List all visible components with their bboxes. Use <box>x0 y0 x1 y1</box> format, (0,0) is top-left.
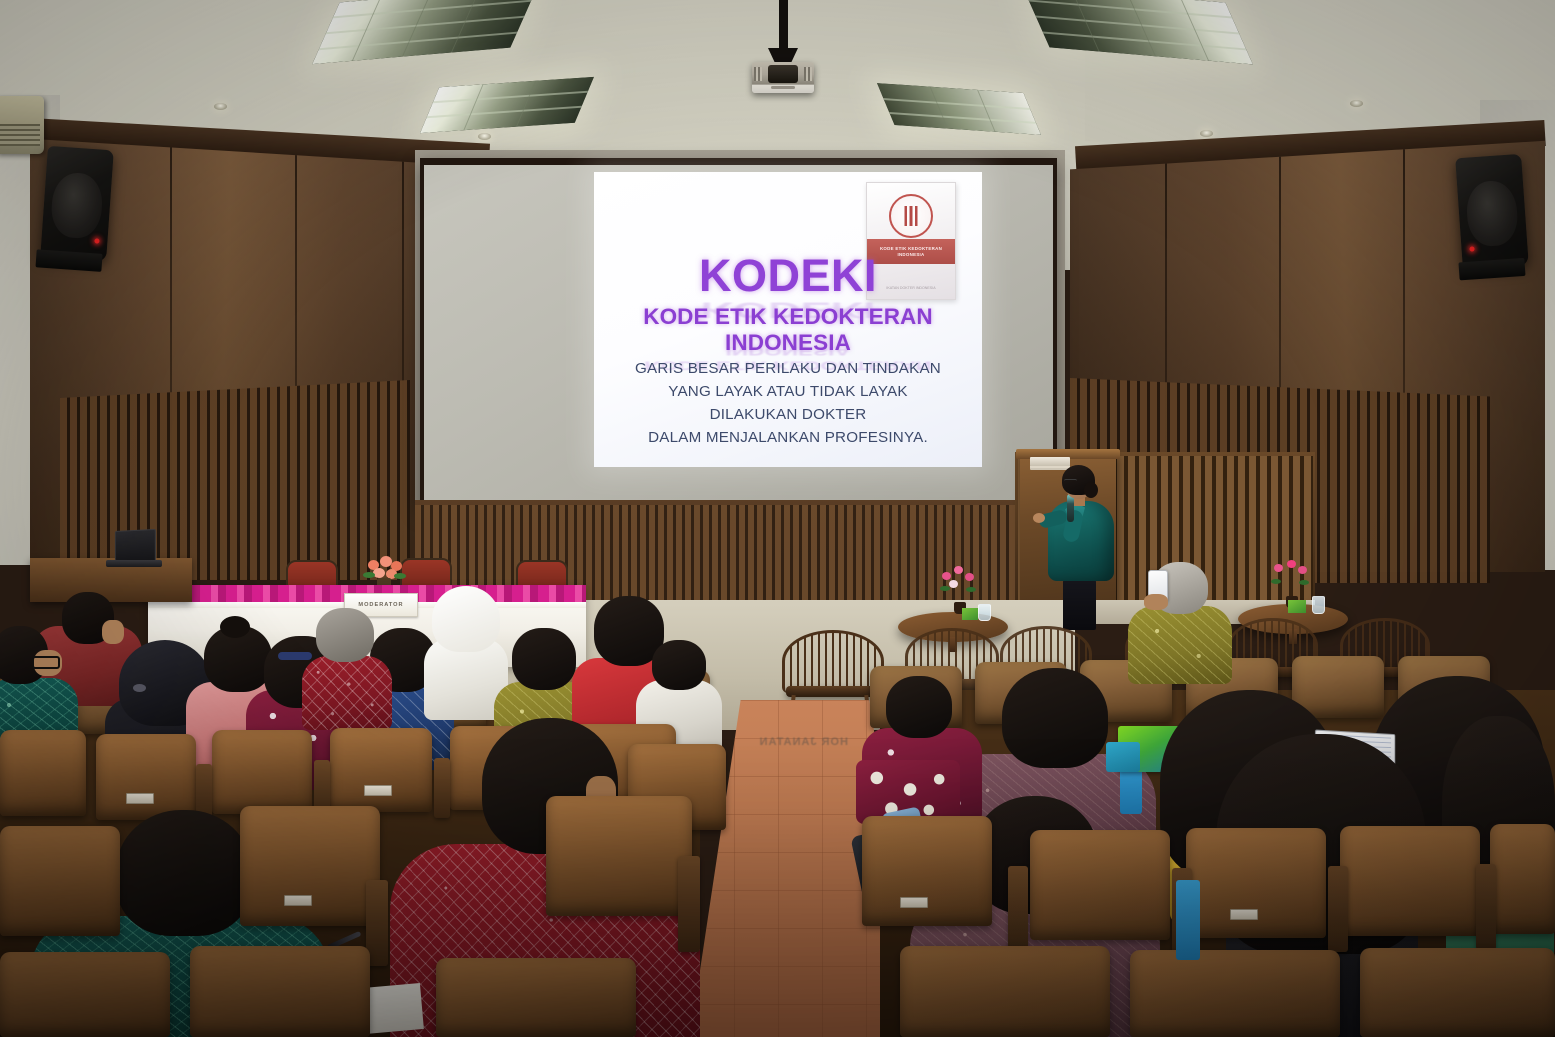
auditorium-seat <box>436 958 636 1037</box>
projector-mount-pole <box>779 0 788 52</box>
glasses-icon <box>1064 479 1077 484</box>
auditorium-seat <box>240 806 380 926</box>
presenter-speaking <box>1043 468 1121 630</box>
auditorium-seat <box>900 946 1110 1037</box>
hijab-pin-icon <box>133 684 146 692</box>
seat-armrest <box>1476 864 1496 950</box>
teal-bag <box>1106 742 1140 772</box>
auditorium-seat <box>0 730 86 816</box>
auditorium-seat <box>96 734 196 820</box>
slide-subtitle: KODE ETIK KEDOKTERAN INDONESIA <box>594 304 982 356</box>
auditorium-seat <box>1360 948 1555 1037</box>
seat-armrest <box>1328 866 1348 952</box>
blue-cloth-right <box>1176 880 1200 960</box>
wall-speaker-right <box>1455 154 1529 270</box>
downlight <box>214 103 227 110</box>
air-conditioner-icon <box>0 96 44 154</box>
lectern-papers <box>1030 457 1070 466</box>
seat-armrest <box>678 856 700 952</box>
auditorium-seat <box>1340 826 1480 936</box>
green-object-on-table <box>962 608 978 620</box>
downlight <box>1350 100 1363 107</box>
idi-emblem-icon <box>889 194 933 238</box>
auditorium-seat <box>1130 950 1340 1037</box>
auditorium-seat <box>0 826 120 936</box>
laptop-base <box>106 560 162 567</box>
ceiling-projector <box>752 62 814 93</box>
seat-armrest <box>1008 866 1028 952</box>
floor-reflection-text: HOR JANATAN <box>718 736 848 766</box>
flower-arrangement <box>938 566 982 614</box>
hair-bun <box>220 616 250 638</box>
auditorium-seat <box>1186 828 1326 938</box>
auditorium-seat <box>862 816 992 926</box>
drinking-glass-right <box>1312 596 1325 614</box>
laptop-on-desk <box>115 529 156 563</box>
auditorium-seat <box>546 796 692 916</box>
auditorium-seat <box>212 730 312 814</box>
downlight <box>478 133 491 140</box>
wall-speaker-left <box>40 146 114 262</box>
auditorium-seat <box>190 946 370 1037</box>
green-object-on-table-right <box>1288 600 1306 613</box>
attendee-olive-batik-phone <box>1128 562 1232 668</box>
glasses-icon <box>32 656 60 669</box>
auditorium-seat <box>0 952 170 1037</box>
auditorium-seat <box>1030 830 1170 940</box>
auditorium-seat <box>1490 824 1555 934</box>
presentation-slide: KODE ETIK KEDOKTERAN INDONESIA IKATAN DO… <box>594 172 982 467</box>
attendee-grey-hair <box>302 608 392 714</box>
auditorium-scene: KODE ETIK KEDOKTERAN INDONESIA IKATAN DO… <box>0 0 1555 1037</box>
slide-title: KODEKI <box>594 250 982 302</box>
presenter-hand <box>1033 513 1045 523</box>
slide-body-text: GARIS BESAR PERILAKU DAN TINDAKAN YANG L… <box>594 357 982 449</box>
attendee-glasses-left <box>0 626 78 736</box>
left-slat-wall <box>60 380 410 580</box>
downlight <box>1200 130 1213 137</box>
hand-holding-phone <box>1144 594 1168 610</box>
drinking-glass <box>978 604 991 621</box>
